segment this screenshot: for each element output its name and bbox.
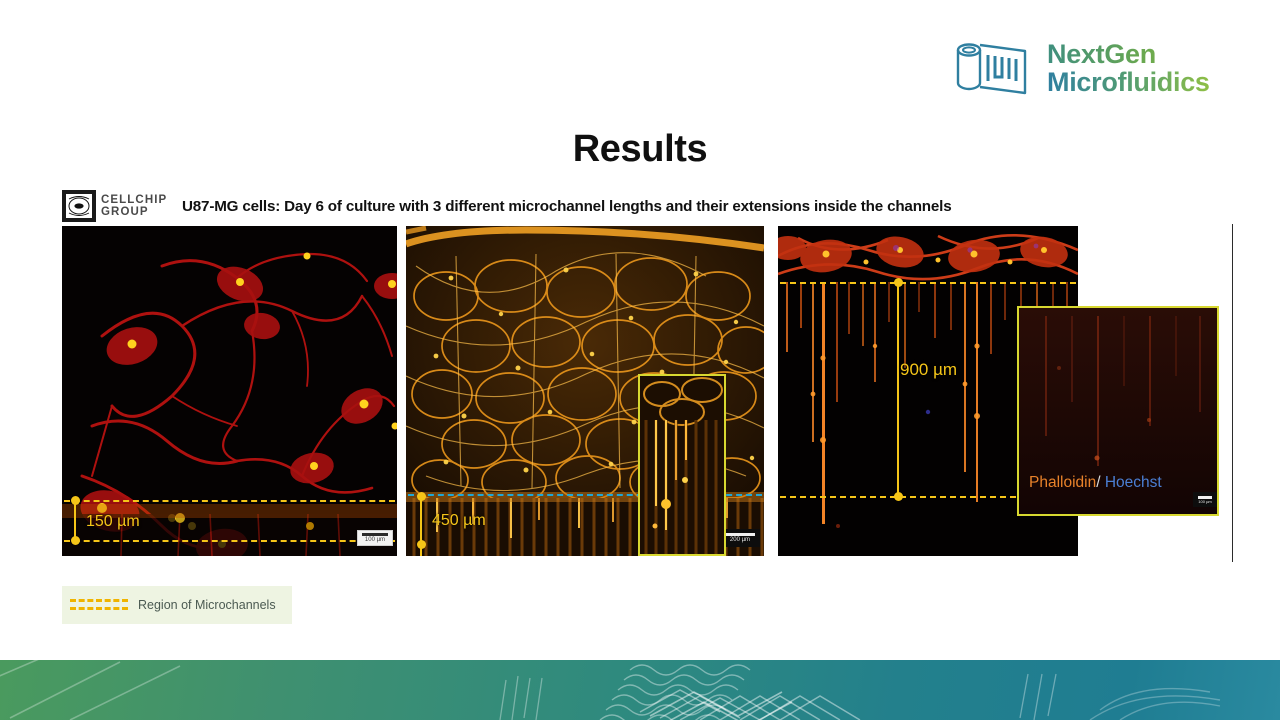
inset-magnified-microchannels-b [638, 374, 726, 556]
dashline-top-c [780, 282, 1076, 284]
scalebar-b: 200 µm [720, 529, 760, 547]
cellchip-wordmark: CELLCHIP GROUP [101, 194, 167, 218]
measure-dot-bottom-b [417, 540, 426, 549]
inset-b-image [640, 376, 726, 556]
brand-wordmark: NextGen Microfluidics [1047, 40, 1210, 96]
footer-band-pattern-icon [0, 660, 1280, 720]
microfluidic-chip-logo-icon [955, 37, 1033, 99]
scalebar-c: 100 µm [1193, 492, 1217, 507]
measure-dot-top-b [417, 492, 426, 501]
inset-stain-legend: Phalloidin/ Hoechst [1029, 474, 1162, 492]
measure-label-900um: 900 µm [900, 360, 957, 380]
scalebar-bar-a [362, 533, 388, 536]
cellchip-line-2: GROUP [101, 206, 167, 218]
legend-label: Region of Microchannels [138, 598, 276, 612]
cellchip-line-1: CELLCHIP [101, 194, 167, 206]
cellchip-group-logo-icon [62, 190, 96, 222]
scalebar-text-a: 100 µm [365, 537, 385, 544]
stain-label-hoechst: Hoechst [1105, 474, 1162, 491]
measure-dot-bottom-a [71, 536, 80, 545]
measure-label-150um: 150 µm [86, 513, 140, 531]
footer-decorative-band [0, 660, 1280, 720]
stain-label-phalloidin: Phalloidin [1029, 474, 1096, 491]
dashline-top-a [64, 500, 395, 502]
legend-dash-line-2 [70, 607, 128, 610]
scalebar-bar-b [725, 533, 755, 536]
measure-line-c [897, 284, 899, 496]
figure-caption: U87-MG cells: Day 6 of culture with 3 di… [182, 198, 951, 215]
legend-dash-line-1 [70, 599, 128, 602]
brand-line-2: Microfluidics [1047, 68, 1210, 96]
fluorescence-image-a [62, 226, 397, 556]
brand-line-1: NextGen [1047, 40, 1210, 68]
scalebar-text-c: 100 µm [1198, 500, 1211, 504]
measure-dot-top-c [894, 278, 903, 287]
legend-region-of-microchannels: Region of Microchannels [62, 586, 292, 624]
stain-label-separator: / [1096, 474, 1100, 491]
measure-dot-top-a [71, 496, 80, 505]
dashline-bottom-a [64, 540, 395, 542]
legend-dash-swatch [70, 598, 128, 612]
page-title: Results [0, 128, 1280, 171]
measure-line-a [74, 502, 76, 540]
caption-row: CELLCHIP GROUP U87-MG cells: Day 6 of cu… [62, 188, 1232, 224]
brand-logo: NextGen Microfluidics [955, 32, 1245, 104]
panel-a-cells [62, 226, 397, 556]
inset-merged-channel-c: Phalloidin/ Hoechst 100 µm [1017, 306, 1219, 516]
slide-root: NextGen Microfluidics Results [0, 0, 1280, 720]
scalebar-text-b: 200 µm [730, 537, 750, 544]
microscopy-panel-150um: 150 µm 100 µm [62, 226, 397, 556]
right-divider-line [1232, 224, 1233, 562]
measure-label-450um: 450 µm [432, 512, 486, 530]
scalebar-a: 100 µm [357, 530, 393, 546]
measure-dot-bottom-c [894, 492, 903, 501]
cellchip-group-logo: CELLCHIP GROUP [62, 189, 172, 223]
